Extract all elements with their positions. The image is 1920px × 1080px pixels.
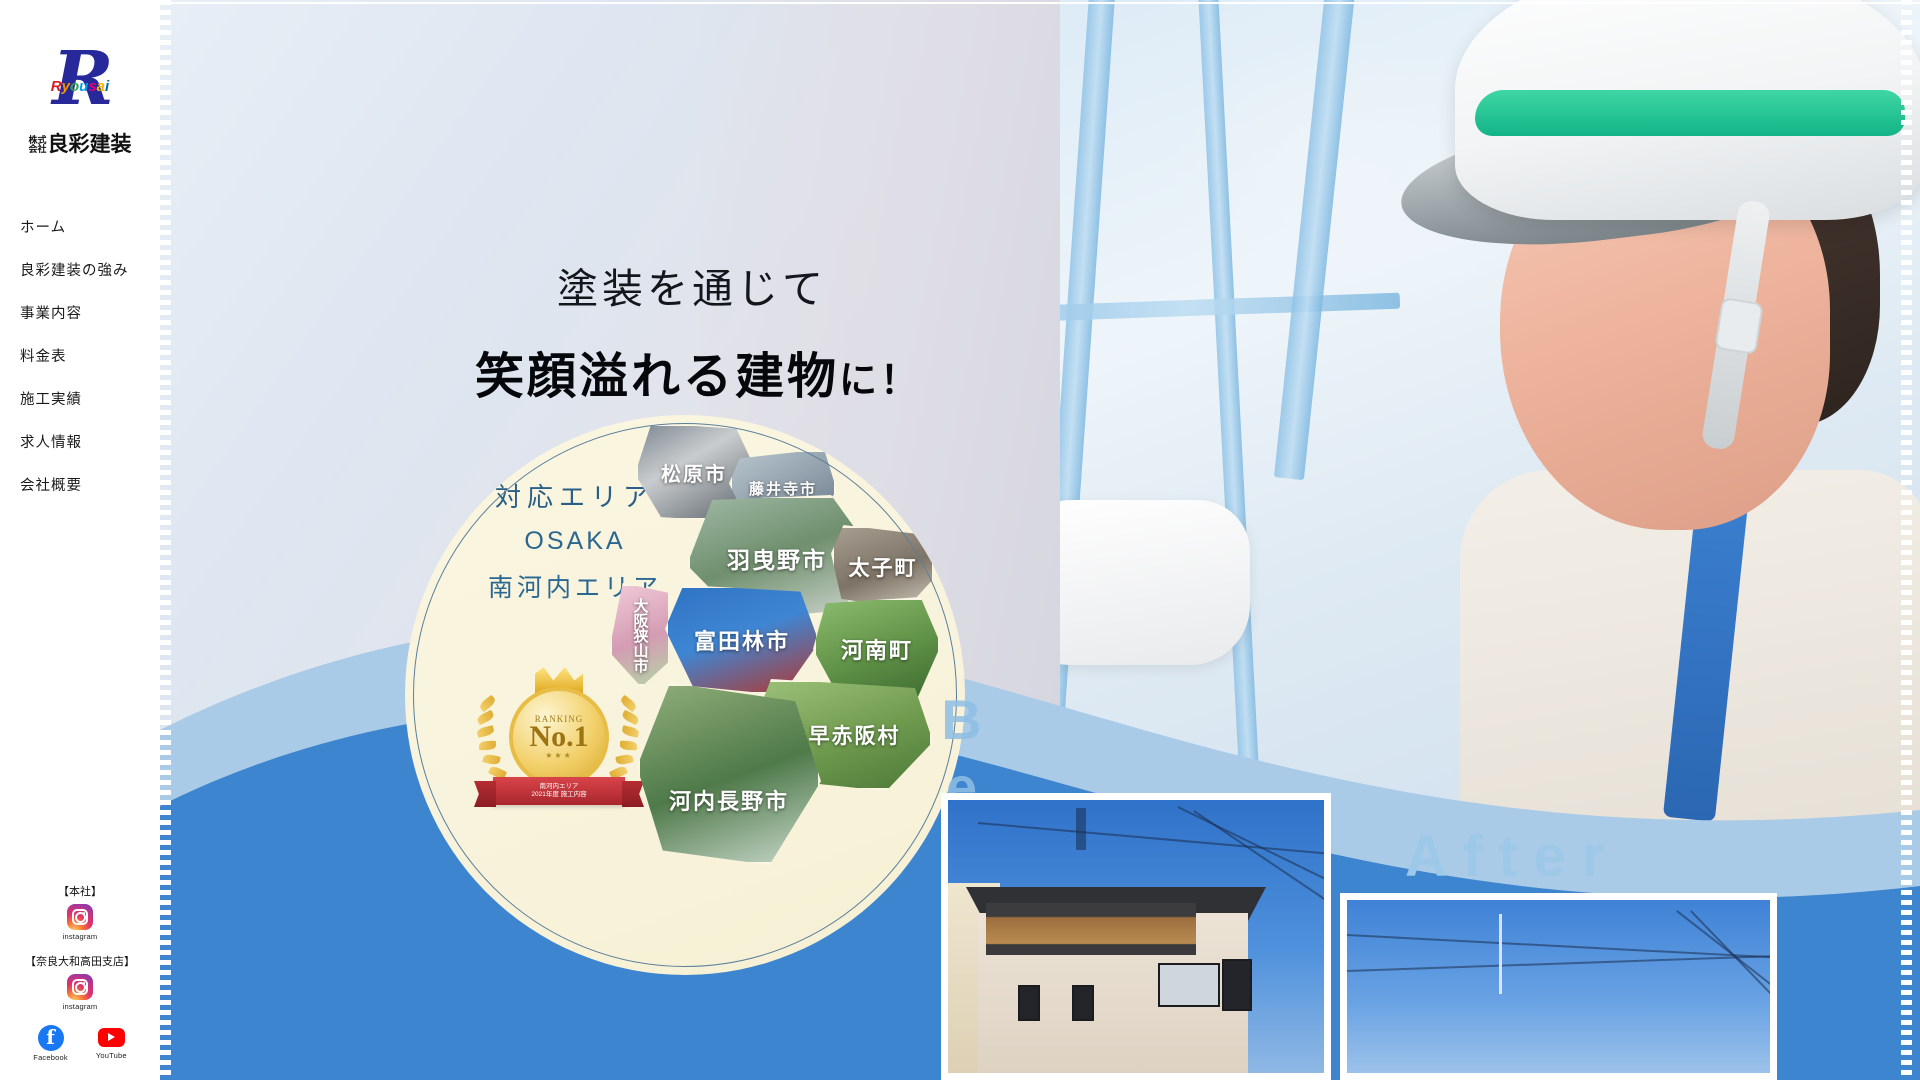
ranking-ribbon: 南河内エリア 2021年度 施工内容 <box>493 777 625 805</box>
nav-item-services[interactable]: 事業内容 <box>0 291 160 334</box>
logo-company-jp: 良彩建装 <box>48 133 132 156</box>
nav-item-recruit[interactable]: 求人情報 <box>0 420 160 463</box>
social-head-office: 【本社】 instagram <box>0 883 160 941</box>
youtube-caption: YouTube <box>96 1051 127 1060</box>
right-dashed-rail <box>1901 0 1912 1080</box>
facebook-icon[interactable]: f <box>38 1025 64 1051</box>
map-region-kawachinagano[interactable]: 河内長野市 <box>637 683 821 865</box>
instagram-head-office-link[interactable]: instagram <box>0 904 160 941</box>
top-rule-line <box>160 2 1920 4</box>
after-photo[interactable] <box>1340 893 1777 1080</box>
instagram-icon[interactable] <box>67 904 93 930</box>
instagram-caption: instagram <box>0 932 160 941</box>
map-region-taishi[interactable]: 太子町 <box>831 525 935 609</box>
nav-item-pricing[interactable]: 料金表 <box>0 334 160 377</box>
ranking-value: No.1 <box>529 720 588 754</box>
sidebar: R Ryousai 株式会社 良彩建装 ホーム 良彩建装の強み 事業内容 料金表… <box>0 0 160 1080</box>
social-links: 【本社】 instagram 【奈良大和高田支店】 instagram f Fa… <box>0 883 160 1062</box>
logo-romaji: Ryousai <box>51 78 109 95</box>
primary-navigation: ホーム 良彩建装の強み 事業内容 料金表 施工実績 求人情報 会社概要 <box>0 205 160 506</box>
hero-content-area: 塗装を通じて 笑顔溢れる建物に！ －対応エリア－ OSAKA 南河内エリア <box>160 0 1920 1080</box>
after-label: After <box>1405 823 1620 890</box>
hero-line-1: 塗装を通じて <box>557 255 921 315</box>
head-office-label: 【本社】 <box>0 883 160 899</box>
site-logo[interactable]: R Ryousai 株式会社 良彩建装 <box>0 40 160 158</box>
hero-line-2-main: 笑顔溢れる建物 <box>475 349 839 404</box>
before-after-section: Before After <box>905 775 1920 1080</box>
map-region-tondabayashi[interactable]: 富田林市 <box>665 585 819 695</box>
nav-item-home[interactable]: ホーム <box>0 205 160 248</box>
logo-company-name: 株式会社 良彩建装 <box>0 128 160 158</box>
hero-line-2: 笑顔溢れる建物に！ <box>475 337 921 408</box>
left-dashed-rail <box>160 0 171 1080</box>
logo-kabushiki: 株式会社 <box>28 136 46 154</box>
nav-item-company[interactable]: 会社概要 <box>0 463 160 506</box>
facebook-caption: Facebook <box>33 1053 68 1062</box>
ranking-medal: RANKING No.1 ★★★ <box>509 687 609 787</box>
instagram-caption: instagram <box>0 1002 160 1011</box>
logo-mark: R Ryousai <box>25 40 135 126</box>
before-photo[interactable] <box>941 793 1331 1080</box>
branch-office-label: 【奈良大和高田支店】 <box>0 953 160 969</box>
ranking-stars-icon: ★★★ <box>545 751 573 760</box>
instagram-branch-link[interactable]: instagram <box>0 974 160 1011</box>
helmet-buckle <box>1714 297 1764 355</box>
facebook-link[interactable]: f Facebook <box>33 1025 68 1062</box>
ribbon-line-2: 2021年度 施工内容 <box>531 791 586 798</box>
nav-item-strengths[interactable]: 良彩建装の強み <box>0 248 160 291</box>
ribbon-line-1: 南河内エリア <box>540 783 579 790</box>
helmet-green-band <box>1475 90 1905 136</box>
hero-line-2-tail: に！ <box>839 360 921 402</box>
service-area-badge: －対応エリア－ OSAKA 南河内エリア RA <box>405 415 965 975</box>
social-branch-office: 【奈良大和高田支店】 instagram <box>0 953 160 1011</box>
youtube-icon[interactable] <box>98 1028 125 1047</box>
youtube-link[interactable]: YouTube <box>96 1025 127 1062</box>
ranking-no1-badge: RANKING No.1 ★★★ 南河内エリア 2021年度 施工内容 <box>463 665 653 815</box>
nav-item-works[interactable]: 施工実績 <box>0 377 160 420</box>
hero-heading: 塗装を通じて 笑顔溢れる建物に！ <box>475 255 921 408</box>
instagram-icon[interactable] <box>67 974 93 1000</box>
social-icon-row: f Facebook YouTube <box>0 1025 160 1062</box>
